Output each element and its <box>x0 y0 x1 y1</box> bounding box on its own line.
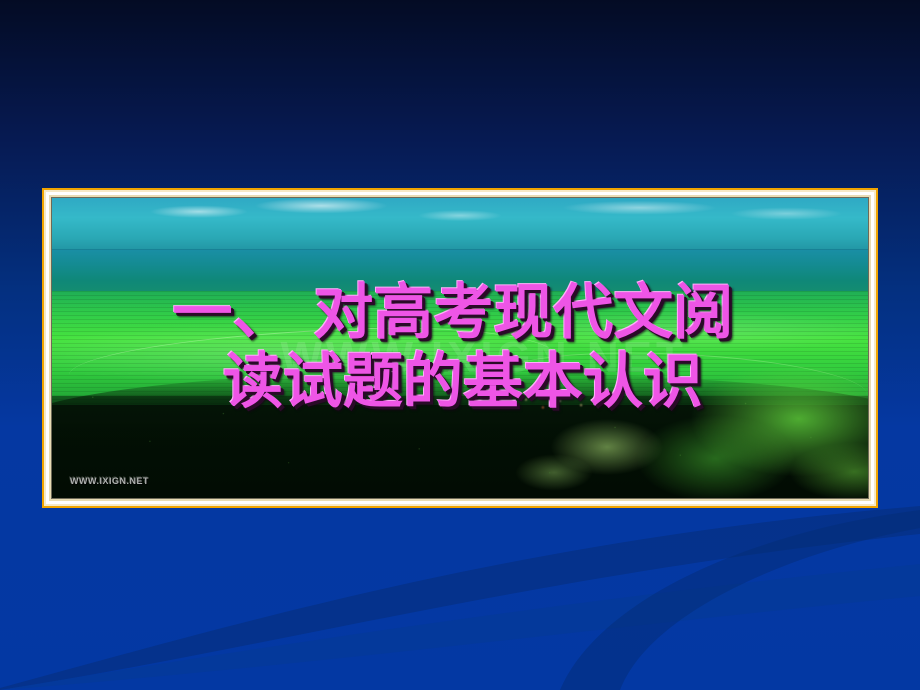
slide-canvas: WWW.IXIGN.NET WWW.IXIGN.NET 一、 对高考现代文阅 读… <box>0 0 920 690</box>
photo-clouds-layer <box>52 198 868 237</box>
picture-frame-white-mat: WWW.IXIGN.NET WWW.IXIGN.NET 一、 对高考现代文阅 读… <box>46 192 874 504</box>
photo-noise-speckles <box>52 372 868 498</box>
grassland-photo: WWW.IXIGN.NET WWW.IXIGN.NET <box>52 198 868 498</box>
picture-frame-inner-bevel: WWW.IXIGN.NET WWW.IXIGN.NET 一、 对高考现代文阅 读… <box>51 197 869 499</box>
background-swoosh-decoration <box>0 500 920 690</box>
swoosh-svg <box>0 500 920 690</box>
photo-watermark-text: WWW.IXIGN.NET <box>70 476 149 486</box>
picture-frame: WWW.IXIGN.NET WWW.IXIGN.NET 一、 对高考现代文阅 读… <box>42 188 878 508</box>
